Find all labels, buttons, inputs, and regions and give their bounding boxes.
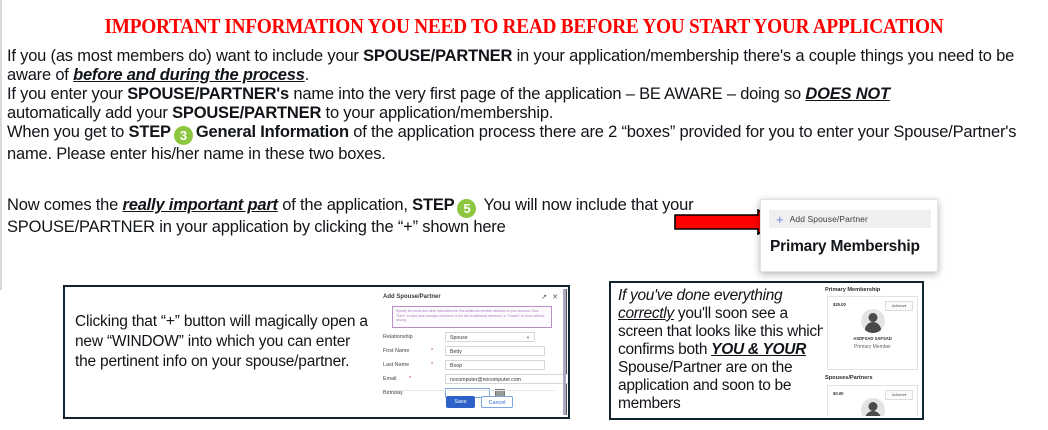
p1-bold-general-information: General Information <box>196 123 349 141</box>
primary-member-card: $25.00 Actions▾ ASDFSAD SAFSAD Primary M… <box>827 296 918 370</box>
dialog-info-text: Specify the name and other information f… <box>392 306 552 328</box>
p1-emphasis-before-during: before and during the process <box>73 66 305 84</box>
relationship-value: Spouse <box>450 335 468 341</box>
p1-bold-spouse-2: SPOUSE/PARTNER's <box>127 85 289 103</box>
p1-text-5: name into the very first page of the app… <box>289 85 805 103</box>
p1-text-7: to your application/membership. <box>321 104 553 122</box>
p1-text-1: If you (as most members do) want to incl… <box>7 47 363 65</box>
avatar-head-shape <box>868 402 877 411</box>
email-input[interactable]: nocomputer@nocomputer.com <box>445 374 570 384</box>
avatar-body-shape <box>865 411 881 416</box>
cr-text-3: Spouse/Partner are on the application an… <box>618 359 792 412</box>
p2-emphasis-really-important: really important part <box>123 196 278 214</box>
chevron-down-icon: ▾ <box>904 304 906 308</box>
add-spouse-partner-button[interactable]: + Add Spouse/Partner <box>769 210 931 228</box>
membership-result-screenshot: Primary Membership $25.00 Actions▾ ASDFS… <box>823 285 920 416</box>
p1-text-6: automatically add your <box>7 104 172 122</box>
primary-member-price: $25.00 <box>833 302 846 307</box>
intro-paragraph: If you (as most members do) want to incl… <box>7 47 1042 164</box>
p1-text-4: If you enter your <box>7 85 127 103</box>
p2-text-1: Now comes the <box>7 196 123 214</box>
cr-emphasis-you-and-your: YOU & YOUR <box>711 341 806 358</box>
dialog-title: Add Spouse/Partner <box>383 294 441 300</box>
save-button[interactable]: Save <box>446 396 475 408</box>
spouse-member-card: $0.00 Actions▾ Betty Boop Spouse/Partner <box>827 385 918 416</box>
callout-box-left: Clicking that “+” button will magically … <box>63 285 570 419</box>
primary-membership-section-title: Primary Membership <box>825 287 880 293</box>
p1-emphasis-does-not: DOES NOT <box>805 85 890 103</box>
cr-emphasis-correctly: correctly <box>618 305 674 322</box>
page-margin-rule <box>0 0 2 290</box>
email-label: Email <box>383 376 396 382</box>
p1-text-8: When you get to <box>7 123 129 141</box>
spouses-partners-section-title: Spouses/Partners <box>825 375 873 381</box>
dialog-divider <box>389 390 555 391</box>
primary-membership-heading: Primary Membership <box>770 238 920 256</box>
dialog-field-first-name: First Name * Betty <box>383 346 561 357</box>
step5-paragraph: Now comes the really important part of t… <box>7 196 707 237</box>
actions-label: Actions <box>892 304 904 308</box>
step-3-badge: 3 <box>174 126 193 145</box>
spouse-member-price: $0.00 <box>833 391 843 396</box>
spouse-member-actions-button[interactable]: Actions▾ <box>885 390 913 400</box>
relationship-label: Relationship <box>383 334 413 340</box>
add-spouse-dialog-screenshot: Add Spouse/Partner ↗ ✕ Specify the name … <box>377 289 567 415</box>
avatar <box>861 398 885 416</box>
primary-member-name: ASDFSAD SAFSAD <box>828 336 917 341</box>
chevron-down-icon: ▾ <box>904 393 906 397</box>
avatar-head-shape <box>868 313 877 322</box>
add-spouse-partner-label: Add Spouse/Partner <box>790 214 868 224</box>
cr-text-1: If you've done everything <box>618 287 782 304</box>
first-name-label: First Name <box>383 348 409 354</box>
last-name-required-marker: * <box>431 362 433 368</box>
first-name-required-marker: * <box>431 348 433 354</box>
avatar <box>861 309 885 333</box>
cancel-button[interactable]: Cancel <box>481 396 513 408</box>
actions-label: Actions <box>892 393 904 397</box>
p1-text-3: . <box>305 66 309 84</box>
p1-bold-step-3: STEP <box>129 123 171 141</box>
page-title: IMPORTANT INFORMATION YOU NEED TO READ B… <box>42 14 1006 39</box>
dialog-field-relationship: Relationship Spouse ▼ <box>383 332 561 343</box>
email-required-marker: * <box>409 376 411 382</box>
first-name-value: Betty <box>450 349 462 355</box>
first-name-input[interactable]: Betty <box>445 346 545 356</box>
primary-member-role: Primary Member <box>828 344 917 350</box>
last-name-input[interactable]: Boop <box>445 360 545 370</box>
dialog-titlebar: Add Spouse/Partner ↗ ✕ <box>383 294 559 303</box>
callout-left-text: Clicking that “+” button will magically … <box>75 312 375 372</box>
callout-right-text: If you've done everything correctly you'… <box>618 287 828 413</box>
step-5-badge: 5 <box>457 199 476 218</box>
dialog-scrollbar[interactable] <box>563 289 566 415</box>
primary-member-actions-button[interactable]: Actions▾ <box>885 301 913 311</box>
p2-text-2: of the application, <box>278 196 412 214</box>
relationship-select[interactable]: Spouse ▼ <box>445 332 535 342</box>
dialog-field-last-name: Last Name * Boop <box>383 360 561 371</box>
avatar-body-shape <box>865 322 881 333</box>
p2-bold-step-5: STEP <box>412 196 454 214</box>
callout-box-right: If you've done everything correctly you'… <box>609 281 924 420</box>
p1-bold-spouse-1: SPOUSE/PARTNER <box>363 47 512 65</box>
chevron-down-icon: ▼ <box>526 335 530 340</box>
email-value: nocomputer@nocomputer.com <box>450 377 521 383</box>
expand-icon[interactable]: ↗ <box>541 293 547 301</box>
last-name-value: Boop <box>450 363 462 369</box>
p1-bold-spouse-3: SPOUSE/PARTNER <box>172 104 321 122</box>
dialog-field-email: Email * nocomputer@nocomputer.com <box>383 374 561 385</box>
add-spouse-popup-card: + Add Spouse/Partner Primary Membership <box>760 199 938 272</box>
last-name-label: Last Name <box>383 362 409 368</box>
close-icon[interactable]: ✕ <box>552 293 558 301</box>
plus-icon: + <box>776 213 784 226</box>
